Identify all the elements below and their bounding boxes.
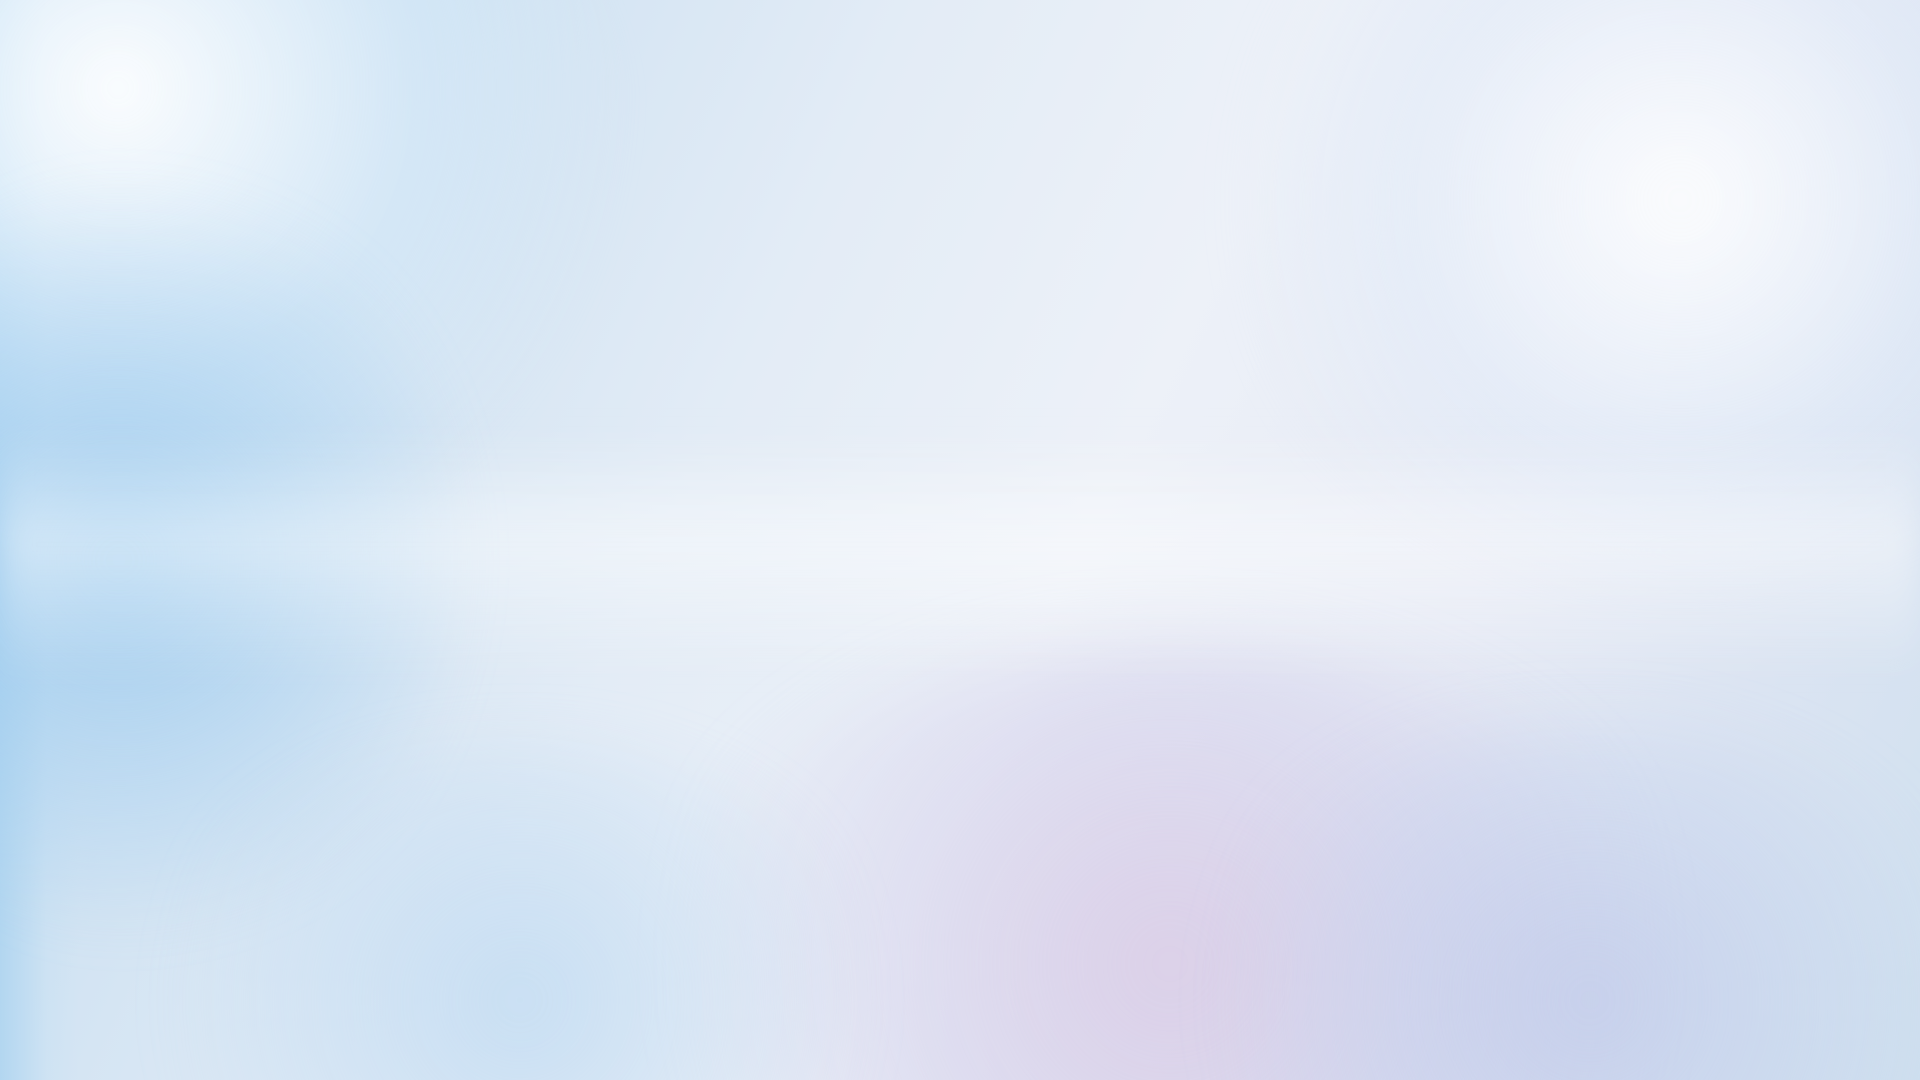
process-chevron-band: [90, 368, 1836, 464]
process-diagram: [0, 0, 1920, 1080]
top-annotations-row: [90, 228, 1830, 328]
